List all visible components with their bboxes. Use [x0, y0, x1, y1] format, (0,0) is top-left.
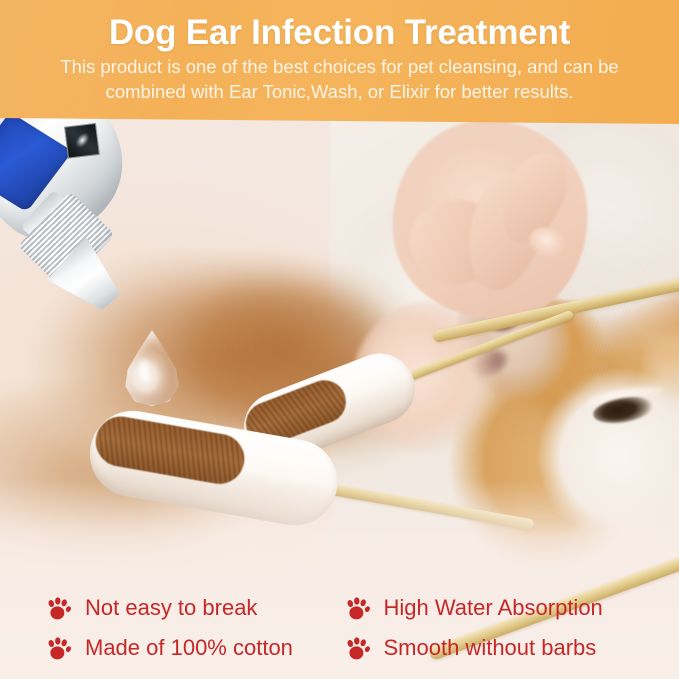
header-banner: Dog Ear Infection Treatment This product…	[0, 0, 679, 124]
header-subtitle-line-1: This product is one of the best choices …	[22, 55, 657, 80]
feature-label: Smooth without barbs	[384, 637, 597, 659]
feature-label: High Water Absorption	[384, 597, 603, 619]
paw-print-icon	[46, 595, 72, 621]
feature-item-high-water-absorption: High Water Absorption	[345, 595, 634, 621]
feature-label: Not easy to break	[85, 597, 257, 619]
header-subtitle: This product is one of the best choices …	[22, 55, 657, 104]
droplet-highlight	[136, 356, 152, 382]
paw-print-icon	[345, 595, 371, 621]
feature-item-made-of-100-percent-cotton: Made of 100% cotton	[46, 635, 335, 661]
feature-list: Not easy to break High Water Absorption …	[0, 595, 679, 661]
product-advertisement: Dog Ear Infection Treatment This product…	[0, 0, 679, 679]
feature-item-smooth-without-barbs: Smooth without barbs	[345, 635, 634, 661]
feature-label: Made of 100% cotton	[85, 637, 293, 659]
header-subtitle-line-2: combined with Ear Tonic,Wash, or Elixir …	[22, 80, 657, 105]
feature-item-not-easy-to-break: Not easy to break	[46, 595, 335, 621]
paw-print-icon	[345, 635, 371, 661]
page-title: Dog Ear Infection Treatment	[0, 0, 679, 51]
warning-sticker-icon	[64, 123, 100, 159]
paw-print-icon	[46, 635, 72, 661]
